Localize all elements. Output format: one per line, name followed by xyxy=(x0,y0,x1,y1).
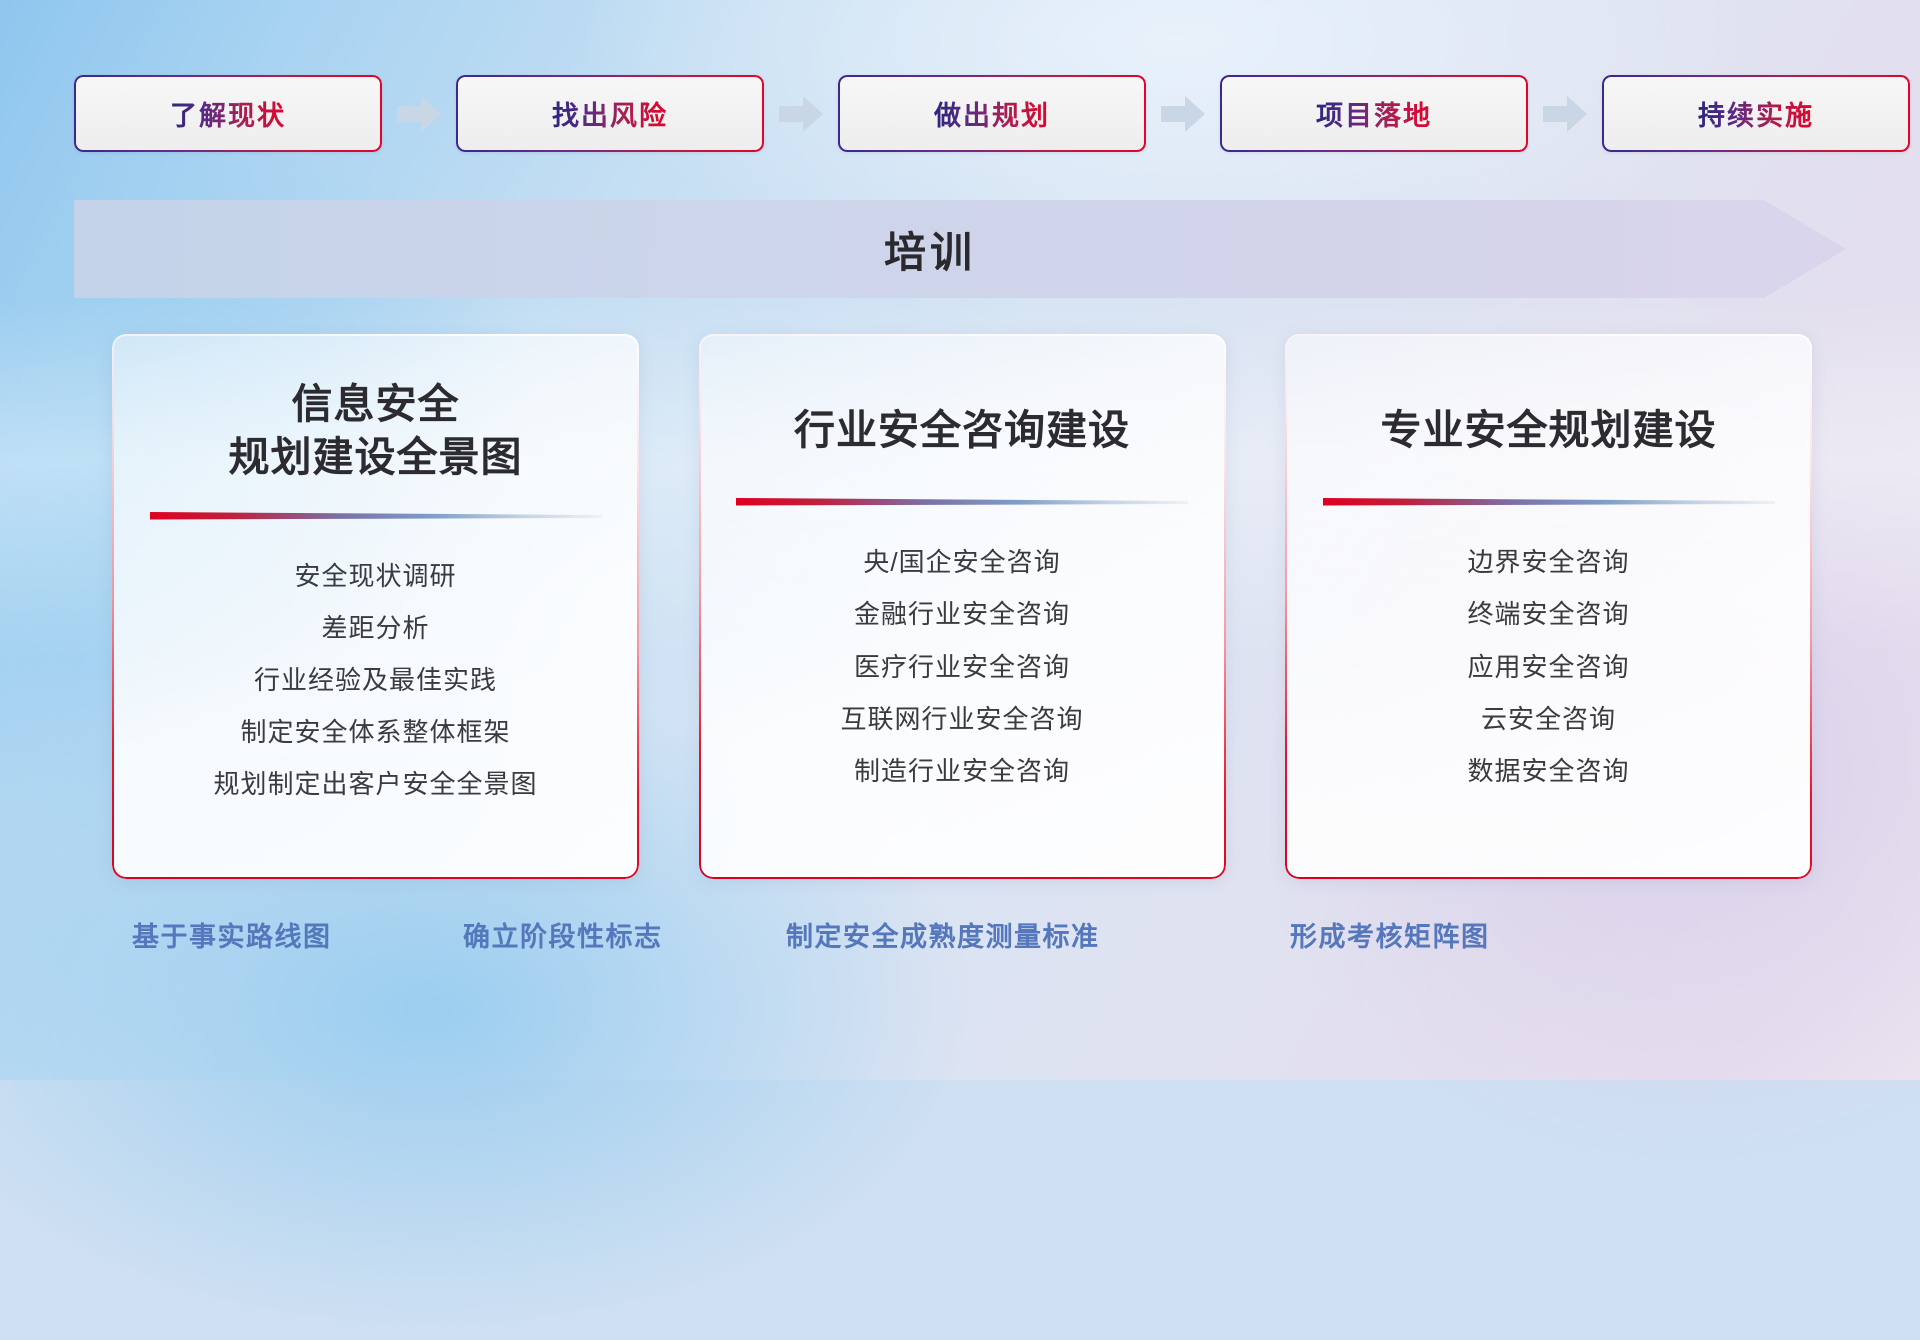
step-box-3[interactable]: 项目落地 xyxy=(1220,75,1528,152)
list-item: 差距分析 xyxy=(213,607,537,649)
card-divider-0 xyxy=(150,511,602,521)
step-box-0[interactable]: 了解现状 xyxy=(74,75,382,152)
footnote-row: 基于事实路线图 确立阶段性标志 制定安全成熟度测量标准 形成考核矩阵图 xyxy=(0,915,1920,965)
step-box-2[interactable]: 做出规划 xyxy=(838,75,1146,152)
card-title-line: 行业安全咨询建设 xyxy=(794,404,1130,457)
list-item: 行业经验及最佳实践 xyxy=(213,659,537,701)
list-item: 终端安全咨询 xyxy=(1467,593,1629,635)
card-title-line: 规划建设全景图 xyxy=(229,431,523,484)
list-item: 安全现状调研 xyxy=(213,555,537,597)
right-arrow-icon xyxy=(773,91,829,137)
card-title-line: 信息安全 xyxy=(229,378,523,431)
step-label-4: 持续实施 xyxy=(1698,94,1814,133)
step-label-2: 做出规划 xyxy=(934,94,1050,133)
banner-title: 培训 xyxy=(74,200,1846,298)
list-item: 数据安全咨询 xyxy=(1467,750,1629,792)
card-0[interactable]: 信息安全 规划建设全景图 xyxy=(112,334,639,879)
right-arrow-icon xyxy=(391,91,447,137)
card-title-line: 专业安全规划建设 xyxy=(1381,404,1717,457)
footnote-0: 基于事实路线图 xyxy=(132,915,332,954)
list-item: 规划制定出客户安全全景图 xyxy=(213,763,537,805)
footnote-1: 确立阶段性标志 xyxy=(463,915,663,954)
card-divider-1 xyxy=(736,497,1188,507)
card-2[interactable]: 专业安全规划建设 xyxy=(1285,334,1812,879)
footnote-2: 制定安全成熟度测量标准 xyxy=(786,915,1100,954)
list-item: 边界安全咨询 xyxy=(1467,541,1629,583)
step-label-3: 项目落地 xyxy=(1316,94,1432,133)
right-arrow-icon xyxy=(1155,91,1211,137)
process-step-row: 了解现状 找出风险 做出规划 项目落地 持续实施 xyxy=(74,75,1846,152)
card-title-2: 专业安全规划建设 xyxy=(1381,404,1717,457)
list-item: 应用安全咨询 xyxy=(1467,646,1629,688)
footnote-3: 形成考核矩阵图 xyxy=(1290,915,1490,954)
list-item: 制造行业安全咨询 xyxy=(840,750,1083,792)
list-item: 医疗行业安全咨询 xyxy=(840,646,1083,688)
step-box-1[interactable]: 找出风险 xyxy=(456,75,764,152)
card-list-2: 边界安全咨询 终端安全咨询 应用安全咨询 云安全咨询 数据安全咨询 xyxy=(1467,541,1629,792)
card-list-1: 央/国企安全咨询 金融行业安全咨询 医疗行业安全咨询 互联网行业安全咨询 制造行… xyxy=(840,541,1083,792)
card-list-0: 安全现状调研 差距分析 行业经验及最佳实践 制定安全体系整体框架 规划制定出客户… xyxy=(213,555,537,806)
step-label-0: 了解现状 xyxy=(170,94,286,133)
card-title-0: 信息安全 规划建设全景图 xyxy=(229,378,523,485)
card-1[interactable]: 行业安全咨询建设 xyxy=(699,334,1226,879)
card-divider-2 xyxy=(1323,497,1775,507)
list-item: 制定安全体系整体框架 xyxy=(213,711,537,753)
list-item: 云安全咨询 xyxy=(1467,698,1629,740)
training-banner: 培训 xyxy=(74,200,1846,298)
card-title-1: 行业安全咨询建设 xyxy=(794,404,1130,457)
list-item: 互联网行业安全咨询 xyxy=(840,698,1083,740)
card-row: 信息安全 规划建设全景图 xyxy=(112,334,1812,879)
list-item: 央/国企安全咨询 xyxy=(840,541,1083,583)
list-item: 金融行业安全咨询 xyxy=(840,593,1083,635)
step-box-4[interactable]: 持续实施 xyxy=(1602,75,1910,152)
right-arrow-icon xyxy=(1537,91,1593,137)
step-label-1: 找出风险 xyxy=(552,94,668,133)
